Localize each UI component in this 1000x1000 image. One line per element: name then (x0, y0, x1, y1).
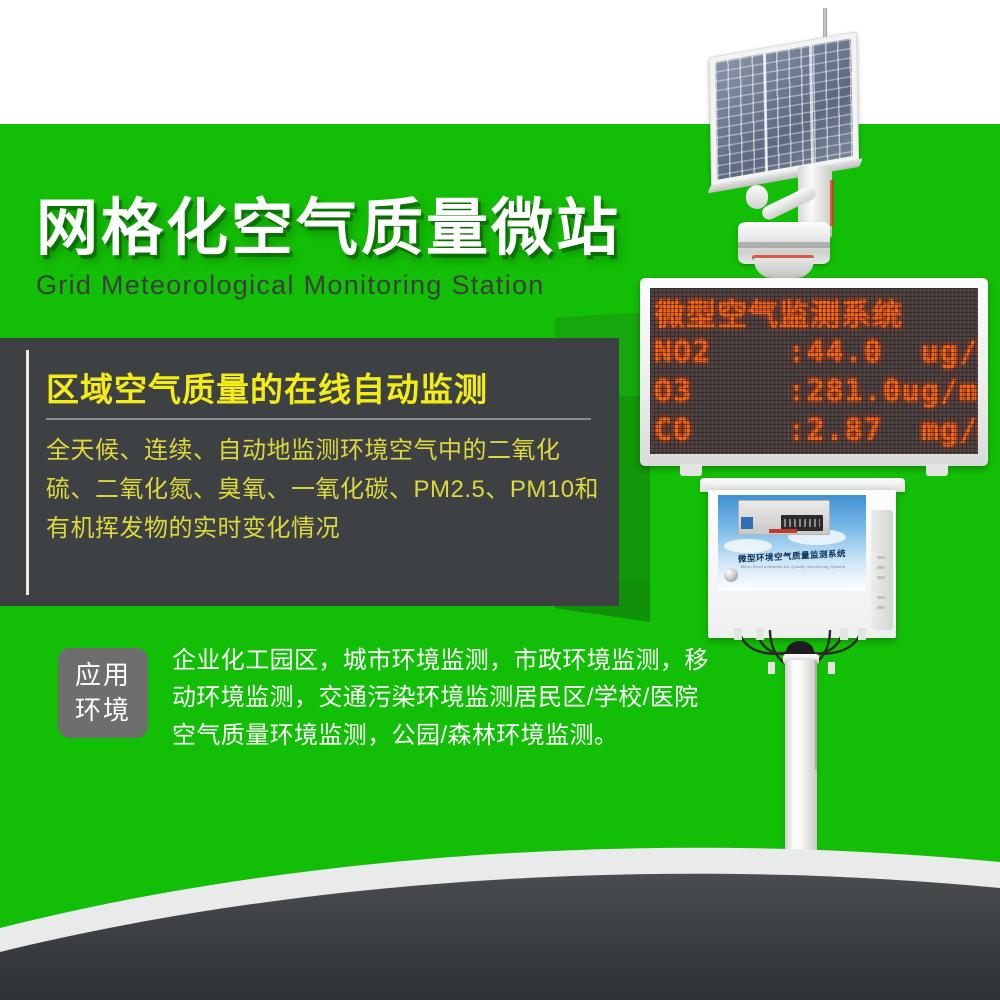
page-title: 网格化空气质量微站 (36, 196, 656, 262)
mount-red-stripe (830, 180, 834, 226)
led-foot-left (680, 464, 702, 476)
vent-slot (877, 596, 885, 599)
vent-slot (877, 576, 885, 579)
breaker-switch[interactable] (741, 517, 753, 529)
sensor-arm-knob (746, 185, 768, 209)
panel-vertical-rule (26, 350, 29, 595)
application-badge-line1: 应用 (75, 658, 131, 693)
feature-panel-body: 全天候、连续、自动地监测环境空气中的二氧化硫、二氧化氮、臭氧、一氧化碳、PM2.… (46, 432, 608, 549)
led-display-screen: 微型空气监测系统 NO2 :44.0 ug/m3 O3 :281.0ug/m3 … (650, 288, 978, 454)
title-block: 网格化空气质量微站 Grid Meteorological Monitoring… (36, 196, 656, 301)
vent-slot (877, 566, 885, 569)
led-row-no2: NO2 :44.0 ug/m3 (654, 335, 978, 370)
vent-slot (877, 556, 885, 559)
application-badge-line2: 环境 (75, 693, 131, 728)
rain-gauge-cone (754, 258, 814, 278)
led-title-text: 微型空气监测系统 (655, 290, 903, 334)
cabinet-instrument-panel (738, 500, 830, 535)
page-subtitle: Grid Meteorological Monitoring Station (36, 270, 656, 301)
feature-panel: 区域空气质量的在线自动监测 全天候、连续、自动地监测环境空气中的二氧化硫、二氧化… (0, 338, 619, 606)
panel-horizontal-rule (46, 418, 591, 420)
cabinet-side-panel (871, 510, 893, 630)
feature-panel-heading: 区域空气质量的在线自动监测 (46, 363, 602, 411)
bottom-wave-decoration (0, 810, 1000, 1000)
vent-slot (877, 606, 885, 609)
rain-gauge-ring (738, 242, 830, 248)
led-display: 微型空气监测系统 NO2 :44.0 ug/m3 O3 :281.0ug/m3 … (640, 278, 988, 466)
application-badge: 应用 环境 (58, 648, 148, 738)
led-row-o3: O3 :281.0ug/m3 (654, 374, 978, 409)
led-row-co: CO :2.87 mg/m3 (654, 413, 978, 448)
solar-panel (709, 31, 859, 187)
camera-lens-icon (724, 568, 738, 582)
cabinet-label-en: Micro Environmental Air Quality Monitori… (738, 564, 848, 569)
poster-root: 网格化空气质量微站 Grid Meteorological Monitoring… (0, 0, 1000, 1000)
solar-panel-cells (715, 38, 853, 180)
led-foot-right (926, 464, 948, 476)
pole-seam (815, 660, 817, 770)
control-cabinet: 微型环境空气质量监测系统 Micro Environmental Air Qua… (708, 490, 896, 638)
instrument-button-row[interactable] (769, 529, 797, 533)
